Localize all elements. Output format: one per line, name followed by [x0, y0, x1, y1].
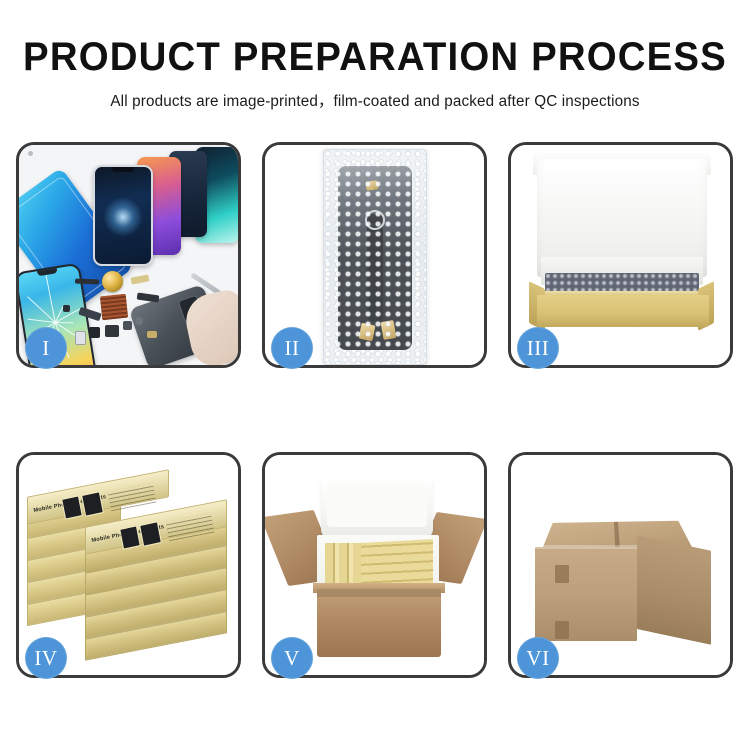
gold-connector-part: [130, 274, 149, 284]
wrapped-phone-part: [338, 166, 412, 350]
box-window-screen: [61, 495, 83, 519]
small-component-part: [89, 327, 100, 338]
small-component-part: [63, 305, 70, 312]
gold-coil-part: [102, 271, 123, 292]
flex-cable-part: [137, 293, 160, 303]
page-header: PRODUCT PREPARATION PROCESS All products…: [0, 36, 750, 111]
box-window-screen: [139, 521, 162, 547]
chip-board-part: [100, 294, 128, 321]
gold-contact-shape: [381, 320, 397, 340]
box-window-screen: [81, 491, 104, 517]
page-subtitle: All products are image-printed，film-coat…: [4, 89, 747, 111]
process-step-panel-4: Mobile Phone Spare Parts Mobile Phone Sp…: [16, 452, 241, 678]
front-glass-photo: [93, 165, 153, 266]
step-badge-4: IV: [25, 637, 67, 679]
step-badge-2: II: [271, 327, 313, 369]
page-title: PRODUCT PREPARATION PROCESS: [15, 36, 735, 78]
bubble-wrap-bag: [323, 149, 427, 365]
small-component-part: [123, 321, 132, 330]
carton-right-face: [637, 535, 711, 645]
carton-front-wall: [317, 589, 441, 657]
small-component-part: [135, 317, 143, 325]
gold-contact-shape: [358, 323, 375, 342]
process-step-panel-1: I: [16, 142, 241, 368]
carton-tape-patch: [555, 621, 569, 639]
screws-part: [19, 145, 37, 157]
process-step-panel-3: III: [508, 142, 733, 368]
step-badge-1: I: [25, 327, 67, 369]
process-step-panel-6: VI: [508, 452, 733, 678]
notch-shape: [112, 167, 134, 172]
process-step-panel-5: V: [262, 452, 487, 678]
camera-lens-shape: [365, 210, 385, 230]
process-step-panel-2: II: [262, 142, 487, 368]
step-badge-3: III: [517, 327, 559, 369]
process-steps-grid: I II: [16, 142, 735, 678]
small-component-part: [105, 325, 119, 337]
flex-cable-part: [75, 279, 99, 285]
notch-shape: [37, 268, 58, 276]
carton-front-face: [535, 547, 637, 641]
gold-contact-shape: [365, 180, 378, 191]
foam-lid-open: [321, 477, 433, 539]
carton-top-edge: [535, 545, 637, 549]
product-preparation-page: PRODUCT PREPARATION PROCESS All products…: [0, 0, 750, 750]
kraft-box-front: [537, 295, 709, 327]
small-component-part: [75, 331, 86, 345]
step-badge-5: V: [271, 637, 313, 679]
box-window-screen: [119, 525, 141, 549]
small-component-part: [147, 331, 157, 338]
carton-tape-patch: [555, 565, 569, 583]
wallpaper-swirl: [103, 197, 143, 237]
step-badge-6: VI: [517, 637, 559, 679]
